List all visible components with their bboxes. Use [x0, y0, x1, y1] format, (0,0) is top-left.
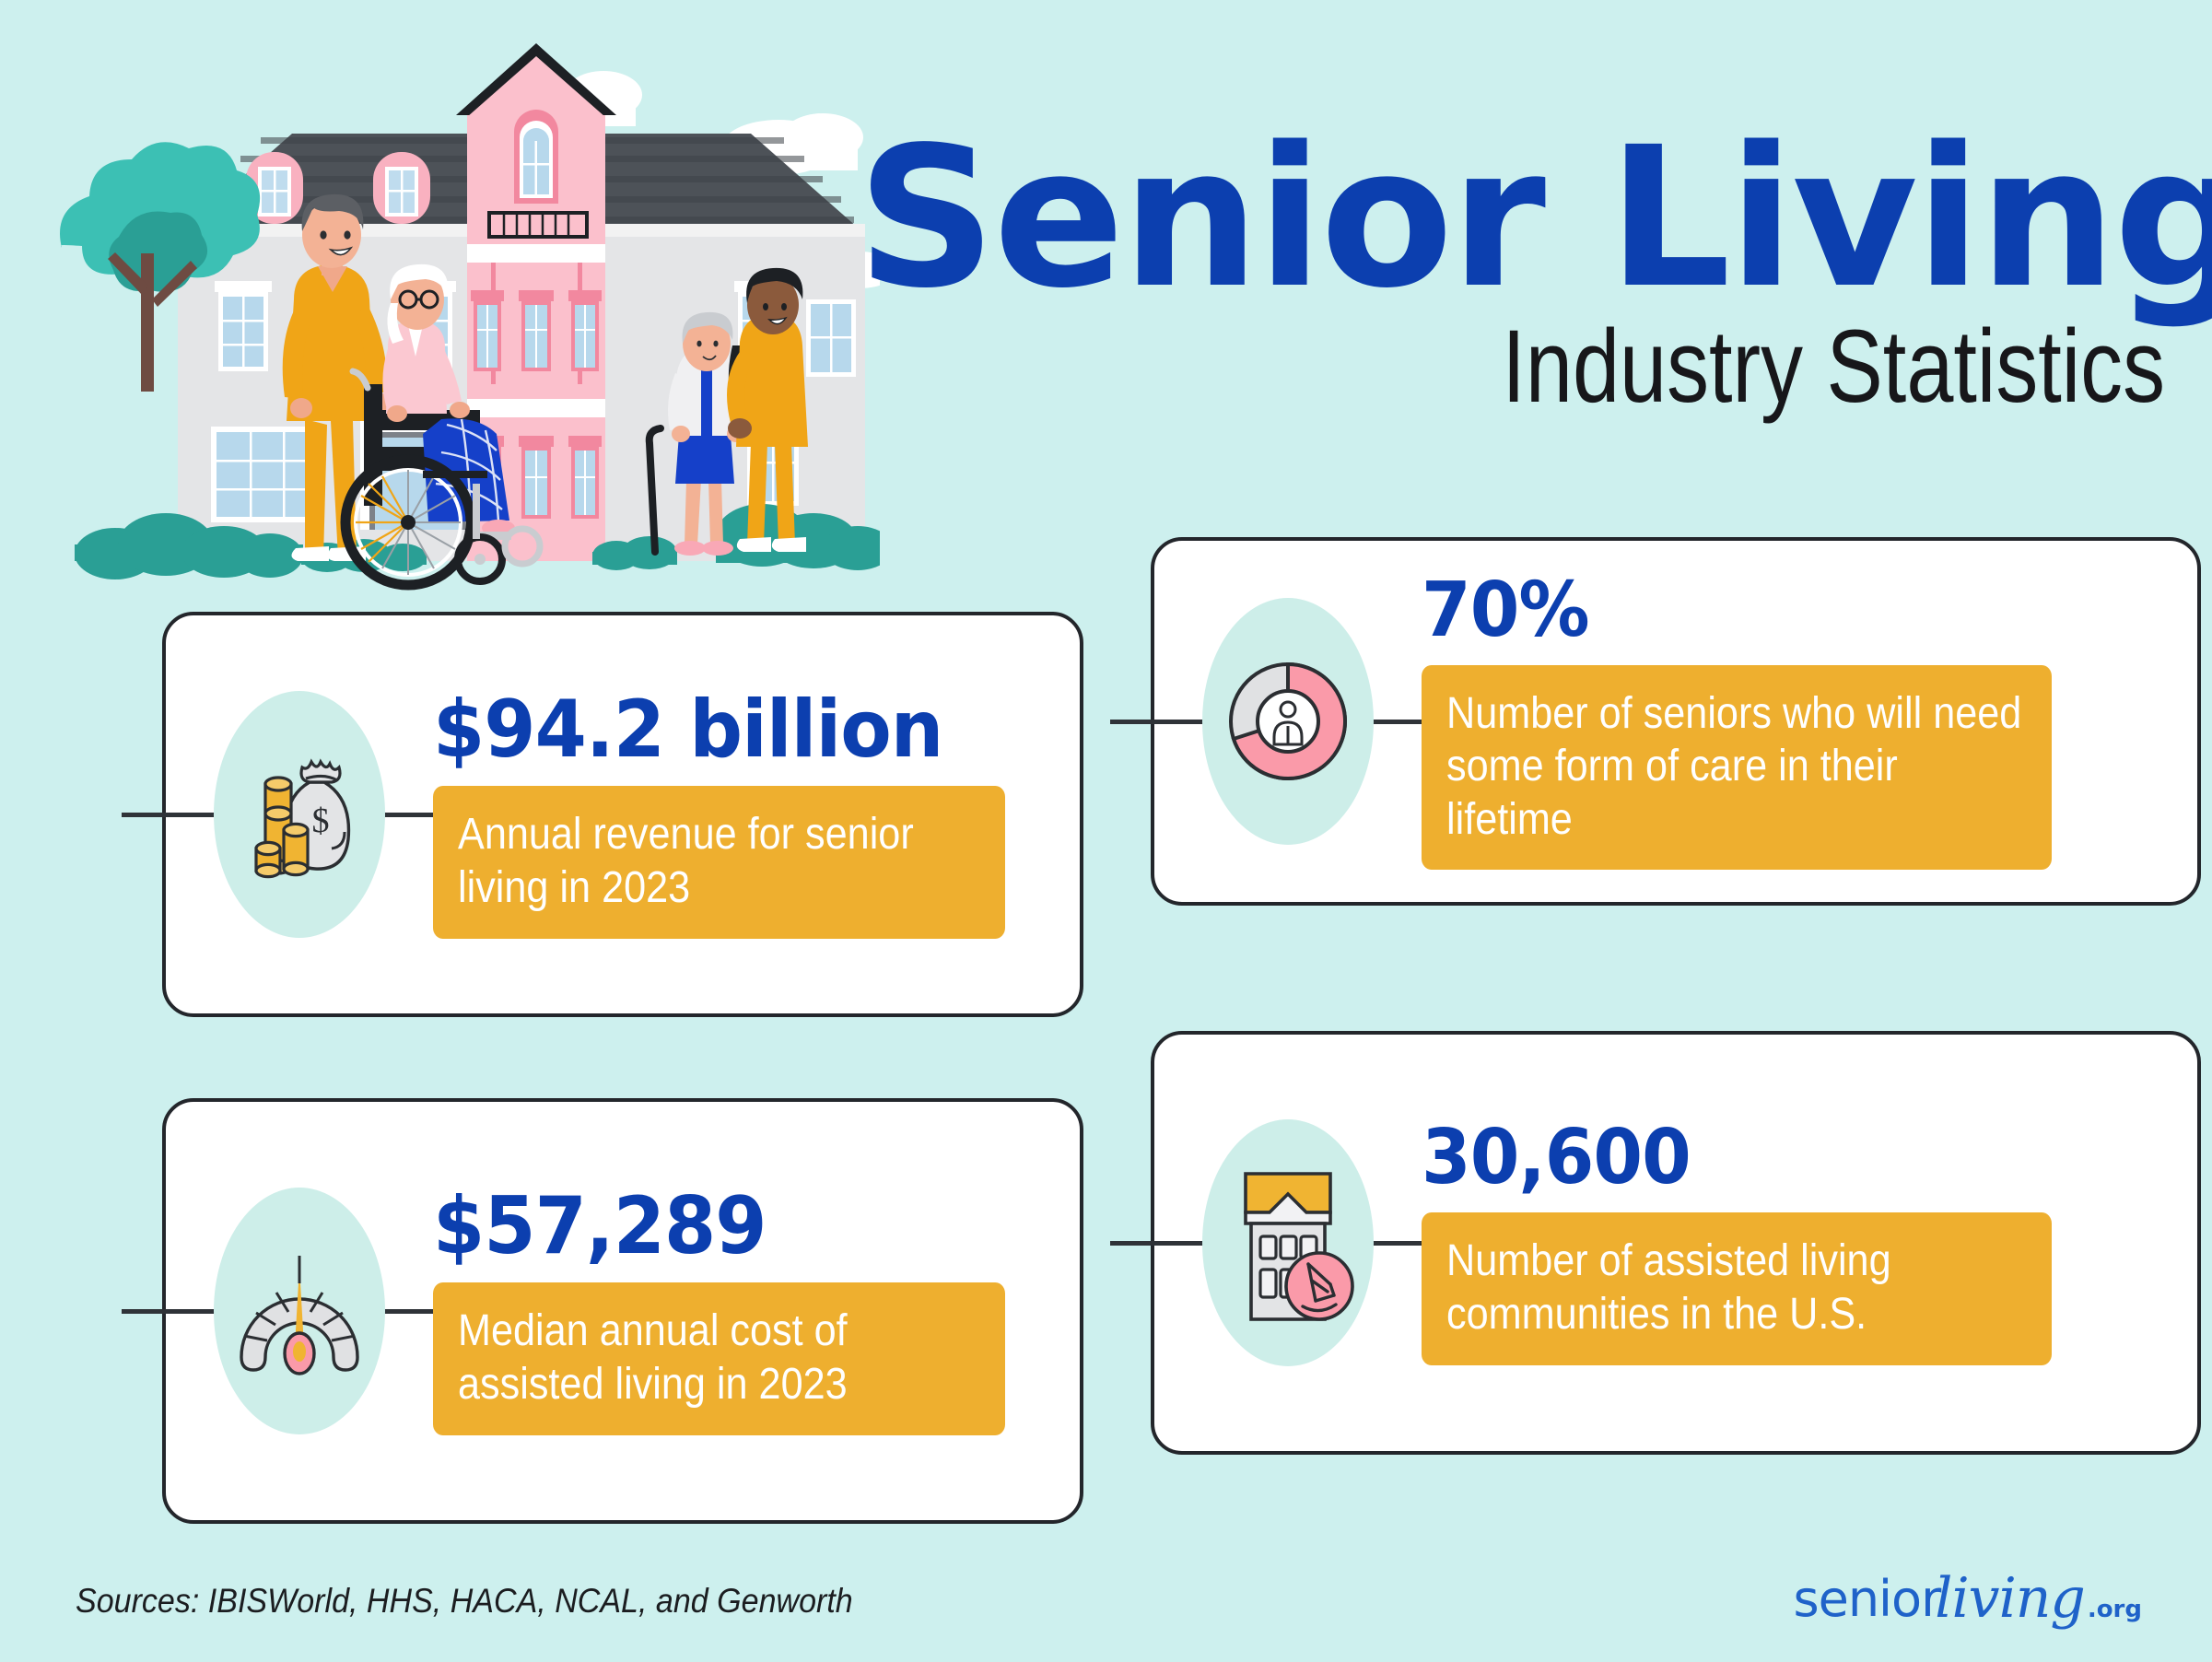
- stat-card-assisted-living-communities[interactable]: 30,600 Number of assisted living communi…: [1151, 1031, 2201, 1455]
- money-bag-coins-icon: $: [214, 729, 385, 900]
- logo-senior-text: senior: [1793, 1570, 1940, 1628]
- svg-text:$: $: [312, 802, 330, 840]
- stat-label: Number of seniors who will need some for…: [1422, 665, 2052, 871]
- icon-container: [1154, 541, 1422, 902]
- seniorliving-logo[interactable]: senior living .org: [1793, 1566, 2142, 1631]
- hero-illustration: [51, 23, 880, 603]
- stat-number: 30,600: [1422, 1120, 1691, 1196]
- stat-number: $94.2 billion: [433, 690, 942, 769]
- dormer-window: [373, 152, 430, 224]
- icon-container: [1154, 1035, 1422, 1451]
- icon-container: [166, 1102, 433, 1520]
- facade-window: [215, 281, 272, 371]
- card-body: $57,289 Median annual cost of assisted l…: [433, 1187, 1107, 1434]
- stat-number: $57,289: [433, 1187, 767, 1266]
- tower-window: [519, 290, 554, 371]
- logo-living-text: living: [1935, 1566, 2085, 1631]
- donut-chart-person-icon: [1210, 643, 1366, 800]
- card-body: 70% Number of seniors who will need some…: [1422, 573, 2197, 871]
- stat-card-seniors-needing-care[interactable]: 70% Number of seniors who will need some…: [1151, 537, 2201, 906]
- page-subtitle: Industry Statistics: [1093, 312, 2165, 421]
- stat-number: 70%: [1422, 573, 1589, 649]
- sources-text: Sources: IBISWorld, HHS, HACA, NCAL, and…: [76, 1582, 853, 1621]
- stat-label: Annual revenue for senior living in 2023: [433, 786, 1005, 938]
- card-body: 30,600 Number of assisted living communi…: [1422, 1120, 2197, 1364]
- tower-window: [471, 290, 504, 371]
- stat-label: Median annual cost of assisted living in…: [433, 1282, 1005, 1434]
- building-rocking-chair-icon: [1205, 1155, 1371, 1330]
- icon-container: $: [166, 615, 433, 1013]
- stat-label: Number of assisted living communities in…: [1422, 1212, 2052, 1364]
- logo-tld-text: .org: [2088, 1596, 2142, 1631]
- facade-window: [806, 299, 856, 377]
- page-title: Senior Living: [857, 129, 2165, 307]
- tower-window: [519, 436, 554, 519]
- card-body: $94.2 billion Annual revenue for senior …: [433, 690, 1107, 938]
- stat-card-annual-revenue[interactable]: $ $94.2 billion Annual revenue for senio…: [162, 612, 1083, 1017]
- stat-card-median-annual-cost[interactable]: $57,289 Median annual cost of assisted l…: [162, 1098, 1083, 1524]
- tower-window: [568, 290, 602, 371]
- tower-window: [568, 436, 602, 519]
- gauge-meter-icon: [217, 1228, 382, 1394]
- title-block: Senior Living Industry Statistics: [857, 129, 2165, 421]
